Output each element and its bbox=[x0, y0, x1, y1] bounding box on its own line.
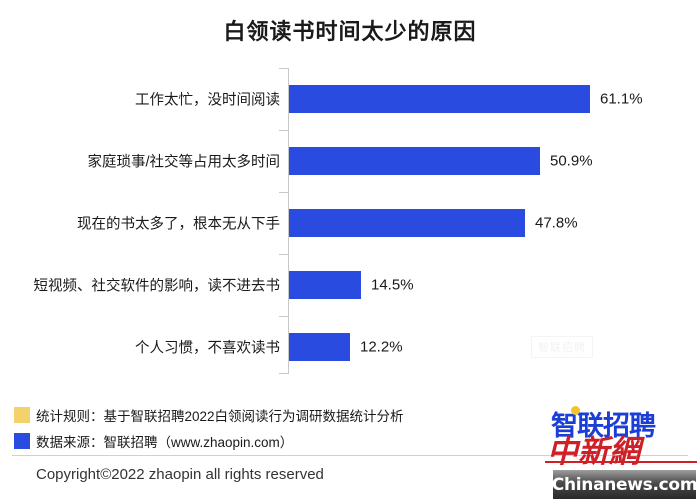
legend-item: 统计规则：基于智联招聘2022白领阅读行为调研数据统计分析 bbox=[14, 404, 534, 426]
axis-tick bbox=[279, 192, 288, 193]
axis-tick bbox=[279, 316, 288, 317]
bar-value-label: 61.1% bbox=[600, 91, 643, 108]
legend-swatch-icon bbox=[14, 407, 30, 423]
bar-value-label: 12.2% bbox=[360, 339, 403, 356]
chart-legend: 统计规则：基于智联招聘2022白领阅读行为调研数据统计分析 数据来源：智联招聘（… bbox=[14, 404, 534, 456]
chinanews-banner-text: Chinanews.com bbox=[552, 475, 697, 495]
axis-tick bbox=[279, 373, 288, 374]
bar-row: 工作太忙，没时间阅读 61.1% bbox=[0, 84, 700, 114]
bar[interactable] bbox=[289, 333, 350, 361]
zhaopin-logo-dot-icon bbox=[571, 406, 580, 415]
bar-category-label: 现在的书太多了，根本无从下手 bbox=[10, 213, 280, 234]
copyright-text: Copyright©2022 zhaopin all rights reserv… bbox=[36, 466, 324, 483]
bar-value-label: 14.5% bbox=[371, 277, 414, 294]
bar-row: 个人习惯，不喜欢读书 12.2% bbox=[0, 332, 700, 362]
chinanews-banner: Chinanews.com bbox=[553, 470, 696, 499]
legend-item-label: 数据来源：智联招聘（www.zhaopin.com） bbox=[36, 431, 293, 451]
bar-category-label: 家庭琐事/社交等占用太多时间 bbox=[10, 151, 280, 172]
legend-item: 数据来源：智联招聘（www.zhaopin.com） bbox=[14, 430, 534, 452]
bar-row: 家庭琐事/社交等占用太多时间 50.9% bbox=[0, 146, 700, 176]
bar-value-label: 47.8% bbox=[535, 215, 578, 232]
legend-item-label: 统计规则：基于智联招聘2022白领阅读行为调研数据统计分析 bbox=[36, 405, 404, 425]
bar-row: 短视频、社交软件的影响，读不进去书 14.5% bbox=[0, 270, 700, 300]
axis-tick bbox=[279, 68, 288, 69]
watermark: 智联招聘 bbox=[531, 336, 593, 358]
bar-category-label: 短视频、社交软件的影响，读不进去书 bbox=[10, 275, 280, 296]
bar-category-label: 个人习惯，不喜欢读书 bbox=[10, 337, 280, 358]
axis-tick bbox=[279, 130, 288, 131]
bar[interactable] bbox=[289, 85, 590, 113]
bar-chart-plot: 工作太忙，没时间阅读 61.1% 家庭琐事/社交等占用太多时间 50.9% 现在… bbox=[0, 62, 700, 380]
chinanews-cn-logo: 中新網 bbox=[547, 426, 640, 471]
bar-value-label: 50.9% bbox=[550, 153, 593, 170]
chart-title: 白领读书时间太少的原因 bbox=[0, 14, 700, 46]
bar[interactable] bbox=[289, 147, 540, 175]
bar-category-label: 工作太忙，没时间阅读 bbox=[10, 89, 280, 110]
bar-row: 现在的书太多了，根本无从下手 47.8% bbox=[0, 208, 700, 238]
legend-swatch-icon bbox=[14, 433, 30, 449]
bar[interactable] bbox=[289, 271, 361, 299]
axis-tick bbox=[279, 254, 288, 255]
bar[interactable] bbox=[289, 209, 525, 237]
logo-group: 智联招聘 中新網 Chinanews.com bbox=[545, 404, 700, 504]
chinanews-logo-rule bbox=[545, 461, 697, 463]
